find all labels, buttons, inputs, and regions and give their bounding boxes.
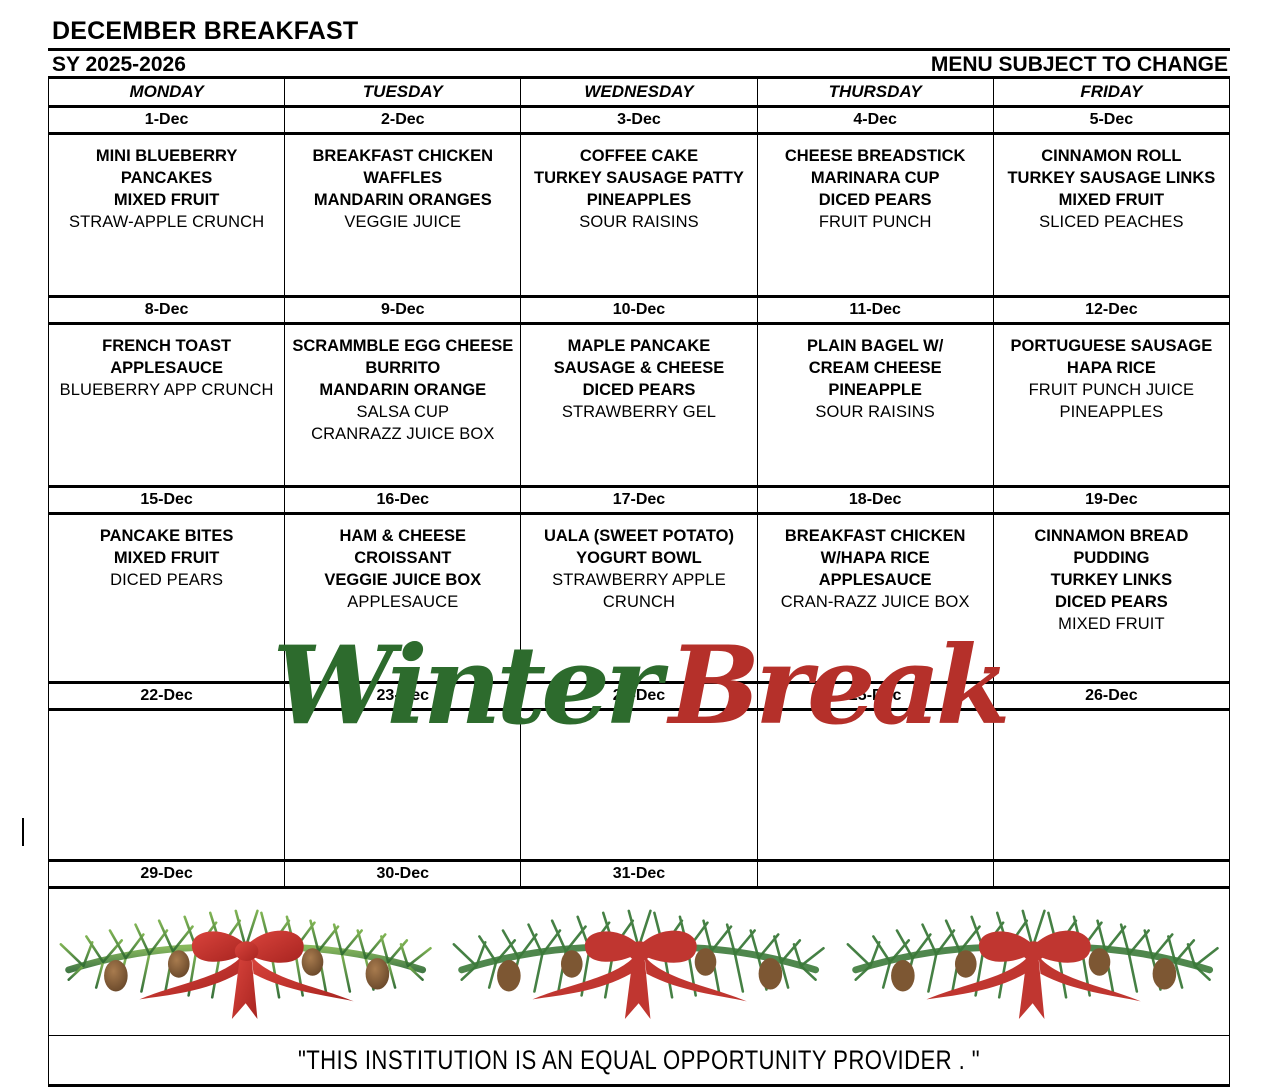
meal-cell: BREAKFAST CHICKEN W/HAPA RICE APPLESAUCE… (757, 514, 993, 683)
footer-cell: "THIS INSTITUTION IS AN EQUAL OPPORTUNIT… (49, 1036, 1230, 1086)
pine-garland-icon (49, 892, 442, 1032)
date-row-week3: 15-Dec 16-Dec 17-Dec 18-Dec 19-Dec (49, 487, 1230, 514)
menu-page: DECEMBER BREAKFAST SY 2025-2026 MENU SUB… (0, 0, 1278, 990)
page-title: DECEMBER BREAKFAST (52, 16, 1230, 46)
meal-item: FRENCH TOAST (53, 335, 280, 357)
meal-cell: COFFEE CAKE TURKEY SAUSAGE PATTY PINEAPP… (521, 134, 757, 297)
date-cell: 2-Dec (285, 107, 521, 134)
meal-cell: CHEESE BREADSTICK MARINARA CUP DICED PEA… (757, 134, 993, 297)
meal-item: MINI BLUEBERRY (53, 145, 280, 167)
date-cell: 18-Dec (757, 487, 993, 514)
meal-item: DICED PEARS (53, 569, 280, 591)
date-cell: 16-Dec (285, 487, 521, 514)
date-cell: 19-Dec (993, 487, 1229, 514)
meal-item: CREAM CHEESE (762, 357, 989, 379)
meal-cell: FRENCH TOAST APPLESAUCE BLUEBERRY APP CR… (49, 324, 285, 487)
menu-calendar: MONDAY TUESDAY WEDNESDAY THURSDAY FRIDAY… (48, 76, 1230, 1087)
meal-item: STRAWBERRY APPLE (525, 569, 752, 591)
meal-item: DICED PEARS (762, 189, 989, 211)
meal-item: COFFEE CAKE (525, 145, 752, 167)
meal-item: BURRITO (289, 357, 516, 379)
meal-item: STRAW-APPLE CRUNCH (53, 211, 280, 233)
meal-item: TURKEY LINKS (998, 569, 1225, 591)
meal-item: DICED PEARS (525, 379, 752, 401)
meal-item: SAUSAGE & CHEESE (525, 357, 752, 379)
meal-item: TURKEY SAUSAGE PATTY (525, 167, 752, 189)
meal-item: MANDARIN ORANGE (289, 379, 516, 401)
meal-item: CRANRAZZ JUICE BOX (289, 423, 516, 445)
date-cell-empty (757, 861, 993, 888)
date-cell: 26-Dec (993, 683, 1229, 710)
meal-item: APPLESAUCE (762, 569, 989, 591)
date-cell: 17-Dec (521, 487, 757, 514)
pine-garland-strip (49, 889, 1229, 1035)
break-cell (521, 710, 757, 861)
meal-item: VEGGIE JUICE BOX (289, 569, 516, 591)
meal-item: PINEAPPLE (762, 379, 989, 401)
winter-break-row (49, 710, 1230, 861)
date-cell: 3-Dec (521, 107, 757, 134)
meal-item: FRUIT PUNCH (762, 211, 989, 233)
date-cell: 23-Dec (285, 683, 521, 710)
meal-item: PORTUGUESE SAUSAGE (998, 335, 1225, 357)
meal-item: CINNAMON BREAD (998, 525, 1225, 547)
date-cell: 24-Dec (521, 683, 757, 710)
date-cell: 30-Dec (285, 861, 521, 888)
meal-item: PUDDING (998, 547, 1225, 569)
meal-item: CROISSANT (289, 547, 516, 569)
day-header-friday: FRIDAY (993, 78, 1229, 107)
date-row-break-week: 22-Dec 23-Dec 24-Dec 25-Dec 26-Dec (49, 683, 1230, 710)
pine-garland-icon (836, 892, 1229, 1032)
meal-item: PINEAPPLES (525, 189, 752, 211)
meal-item: HAM & CHEESE (289, 525, 516, 547)
break-cell (993, 710, 1229, 861)
meal-item: PANCAKE BITES (53, 525, 280, 547)
meal-item: PLAIN BAGEL W/ (762, 335, 989, 357)
meal-cell: PLAIN BAGEL W/ CREAM CHEESE PINEAPPLE SO… (757, 324, 993, 487)
meal-item: CRAN-RAZZ JUICE BOX (762, 591, 989, 613)
day-header-thursday: THURSDAY (757, 78, 993, 107)
date-cell: 25-Dec (757, 683, 993, 710)
meal-item: PANCAKES (53, 167, 280, 189)
menu-change-notice: MENU SUBJECT TO CHANGE (931, 53, 1228, 77)
meal-item: YOGURT BOWL (525, 547, 752, 569)
meal-item: MAPLE PANCAKE (525, 335, 752, 357)
meal-item: MIXED FRUIT (998, 613, 1225, 635)
meal-cell: HAM & CHEESE CROISSANT VEGGIE JUICE BOX … (285, 514, 521, 683)
meal-item: CHEESE BREADSTICK (762, 145, 989, 167)
date-cell: 9-Dec (285, 297, 521, 324)
date-row-week1: 1-Dec 2-Dec 3-Dec 4-Dec 5-Dec (49, 107, 1230, 134)
meal-item: W/HAPA RICE (762, 547, 989, 569)
footer-row: "THIS INSTITUTION IS AN EQUAL OPPORTUNIT… (49, 1036, 1230, 1086)
date-cell: 5-Dec (993, 107, 1229, 134)
meal-item: SCRAMMBLE EGG CHEESE (289, 335, 516, 357)
meal-item: MIXED FRUIT (53, 547, 280, 569)
date-cell: 10-Dec (521, 297, 757, 324)
break-cell (757, 710, 993, 861)
subtitle-row: SY 2025-2026 MENU SUBJECT TO CHANGE (48, 51, 1230, 79)
meal-item: MARINARA CUP (762, 167, 989, 189)
meal-item: VEGGIE JUICE (289, 211, 516, 233)
meal-item: CRUNCH (525, 591, 752, 613)
meal-cell: BREAKFAST CHICKEN WAFFLES MANDARIN ORANG… (285, 134, 521, 297)
meal-cell: CINNAMON BREAD PUDDING TURKEY LINKS DICE… (993, 514, 1229, 683)
school-year-label: SY 2025-2026 (52, 53, 186, 77)
garland-cell (49, 888, 1230, 1036)
meal-cell: SCRAMMBLE EGG CHEESE BURRITO MANDARIN OR… (285, 324, 521, 487)
meal-item: HAPA RICE (998, 357, 1225, 379)
meal-item: MIXED FRUIT (998, 189, 1225, 211)
meal-item: FRUIT PUNCH JUICE (998, 379, 1225, 401)
day-header-tuesday: TUESDAY (285, 78, 521, 107)
date-cell: 4-Dec (757, 107, 993, 134)
meal-cell: PORTUGUESE SAUSAGE HAPA RICE FRUIT PUNCH… (993, 324, 1229, 487)
date-cell: 12-Dec (993, 297, 1229, 324)
equal-opportunity-statement: "THIS INSTITUTION IS AN EQUAL OPPORTUNIT… (155, 1045, 1123, 1076)
left-margin-tick (22, 818, 24, 846)
meal-cell: CINNAMON ROLL TURKEY SAUSAGE LINKS MIXED… (993, 134, 1229, 297)
date-cell: 8-Dec (49, 297, 285, 324)
date-cell: 22-Dec (49, 683, 285, 710)
date-cell: 31-Dec (521, 861, 757, 888)
meal-cell: UALA (SWEET POTATO) YOGURT BOWL STRAWBER… (521, 514, 757, 683)
meal-cell: MAPLE PANCAKE SAUSAGE & CHEESE DICED PEA… (521, 324, 757, 487)
meal-item: SOUR RAISINS (762, 401, 989, 423)
break-cell (285, 710, 521, 861)
date-row-final-week: 29-Dec 30-Dec 31-Dec (49, 861, 1230, 888)
meal-row-week1: MINI BLUEBERRY PANCAKES MIXED FRUIT STRA… (49, 134, 1230, 297)
meal-item: WAFFLES (289, 167, 516, 189)
meal-item: PINEAPPLES (998, 401, 1225, 423)
pine-garland-icon (442, 892, 835, 1032)
date-cell-empty (993, 861, 1229, 888)
day-header-monday: MONDAY (49, 78, 285, 107)
meal-cell: MINI BLUEBERRY PANCAKES MIXED FRUIT STRA… (49, 134, 285, 297)
meal-item: TURKEY SAUSAGE LINKS (998, 167, 1225, 189)
meal-item: APPLESAUCE (289, 591, 516, 613)
meal-item: CINNAMON ROLL (998, 145, 1225, 167)
meal-row-week3: PANCAKE BITES MIXED FRUIT DICED PEARS HA… (49, 514, 1230, 683)
date-cell: 29-Dec (49, 861, 285, 888)
meal-item: BREAKFAST CHICKEN (762, 525, 989, 547)
meal-item: SOUR RAISINS (525, 211, 752, 233)
meal-item: SALSA CUP (289, 401, 516, 423)
day-header-wednesday: WEDNESDAY (521, 78, 757, 107)
meal-item: BLUEBERRY APP CRUNCH (53, 379, 280, 401)
day-header-row: MONDAY TUESDAY WEDNESDAY THURSDAY FRIDAY (49, 78, 1230, 107)
meal-row-week2: FRENCH TOAST APPLESAUCE BLUEBERRY APP CR… (49, 324, 1230, 487)
meal-item: UALA (SWEET POTATO) (525, 525, 752, 547)
meal-item: APPLESAUCE (53, 357, 280, 379)
meal-item: BREAKFAST CHICKEN (289, 145, 516, 167)
meal-item: MANDARIN ORANGES (289, 189, 516, 211)
meal-cell: PANCAKE BITES MIXED FRUIT DICED PEARS (49, 514, 285, 683)
date-row-week2: 8-Dec 9-Dec 10-Dec 11-Dec 12-Dec (49, 297, 1230, 324)
title-block: DECEMBER BREAKFAST SY 2025-2026 MENU SUB… (48, 16, 1230, 79)
date-cell: 15-Dec (49, 487, 285, 514)
break-cell (49, 710, 285, 861)
date-cell: 11-Dec (757, 297, 993, 324)
meal-item: MIXED FRUIT (53, 189, 280, 211)
garland-row (49, 888, 1230, 1036)
meal-item: STRAWBERRY GEL (525, 401, 752, 423)
date-cell: 1-Dec (49, 107, 285, 134)
meal-item: DICED PEARS (998, 591, 1225, 613)
meal-item: SLICED PEACHES (998, 211, 1225, 233)
